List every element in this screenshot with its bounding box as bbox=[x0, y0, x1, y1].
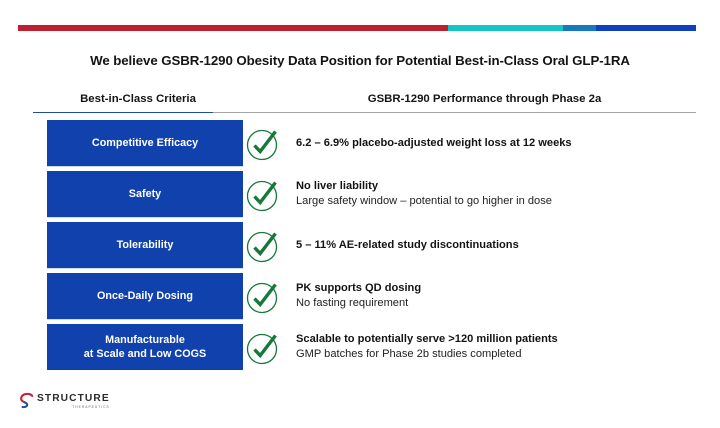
criteria-label: Manufacturable at Scale and Low COGS bbox=[84, 333, 206, 361]
table-row: Tolerability 5 – 11% AE-related study di… bbox=[0, 222, 720, 270]
criteria-label: Competitive Efficacy bbox=[92, 136, 198, 150]
performance-cell: PK supports QD dosing No fasting require… bbox=[296, 273, 706, 319]
slide-title: We believe GSBR-1290 Obesity Data Positi… bbox=[0, 53, 720, 68]
criteria-box-underline bbox=[47, 268, 243, 269]
criteria-table: Competitive Efficacy 6.2 – 6.9% placebo-… bbox=[0, 120, 720, 375]
table-row: Safety No liver liability Large safety w… bbox=[0, 171, 720, 219]
criteria-label: Once-Daily Dosing bbox=[97, 289, 193, 303]
performance-secondary: Large safety window – potential to go hi… bbox=[296, 194, 706, 209]
column-header-performance: GSBR-1290 Performance through Phase 2a bbox=[273, 93, 696, 105]
accent-bar-segment-blue bbox=[596, 25, 696, 31]
header-divider-gray bbox=[213, 112, 696, 113]
column-header-criteria: Best-in-Class Criteria bbox=[33, 93, 243, 105]
criteria-box: Tolerability bbox=[47, 222, 243, 268]
header-divider-blue bbox=[33, 112, 213, 113]
accent-bar bbox=[18, 25, 696, 31]
performance-primary: PK supports QD dosing bbox=[296, 281, 706, 296]
column-headers: Best-in-Class Criteria GSBR-1290 Perform… bbox=[33, 93, 696, 110]
performance-cell: No liver liability Large safety window –… bbox=[296, 171, 706, 217]
logo-company-name: STRUCTURE bbox=[37, 394, 110, 404]
table-row: Manufacturable at Scale and Low COGS Sca… bbox=[0, 324, 720, 372]
check-circle-icon bbox=[244, 329, 282, 367]
logo-company-subtitle: THERAPEUTICS bbox=[37, 405, 110, 410]
performance-cell: 5 – 11% AE-related study discontinuation… bbox=[296, 222, 706, 268]
check-circle-icon bbox=[244, 278, 282, 316]
criteria-label: Tolerability bbox=[117, 238, 174, 252]
performance-cell: 6.2 – 6.9% placebo-adjusted weight loss … bbox=[296, 120, 706, 166]
criteria-label-line1: Manufacturable bbox=[105, 334, 185, 346]
performance-primary: 5 – 11% AE-related study discontinuation… bbox=[296, 238, 706, 253]
criteria-box: Once-Daily Dosing bbox=[47, 273, 243, 319]
company-logo: STRUCTURE THERAPEUTICS bbox=[18, 392, 110, 412]
criteria-label-line2: at Scale and Low COGS bbox=[84, 348, 206, 360]
check-circle-icon bbox=[244, 125, 282, 163]
criteria-box-underline bbox=[47, 166, 243, 167]
structure-s-mark-icon bbox=[18, 392, 34, 409]
header-divider bbox=[33, 112, 696, 113]
check-circle-icon bbox=[244, 227, 282, 265]
accent-bar-segment-red bbox=[18, 25, 448, 31]
performance-secondary: No fasting requirement bbox=[296, 296, 706, 311]
accent-bar-segment-teal bbox=[448, 25, 563, 31]
criteria-box: Manufacturable at Scale and Low COGS bbox=[47, 324, 243, 370]
logo-wordmark: STRUCTURE THERAPEUTICS bbox=[37, 392, 110, 410]
check-circle-icon bbox=[244, 176, 282, 214]
criteria-box: Safety bbox=[47, 171, 243, 217]
criteria-box-underline bbox=[47, 319, 243, 320]
performance-cell: Scalable to potentially serve >120 milli… bbox=[296, 324, 706, 370]
criteria-label: Safety bbox=[129, 187, 161, 201]
criteria-box-underline bbox=[47, 217, 243, 218]
performance-secondary: GMP batches for Phase 2b studies complet… bbox=[296, 347, 706, 362]
performance-primary: No liver liability bbox=[296, 179, 706, 194]
table-row: Once-Daily Dosing PK supports QD dosing … bbox=[0, 273, 720, 321]
performance-primary: 6.2 – 6.9% placebo-adjusted weight loss … bbox=[296, 136, 706, 151]
table-row: Competitive Efficacy 6.2 – 6.9% placebo-… bbox=[0, 120, 720, 168]
performance-primary: Scalable to potentially serve >120 milli… bbox=[296, 332, 706, 347]
accent-bar-segment-mid-blue bbox=[563, 25, 596, 31]
slide-canvas: We believe GSBR-1290 Obesity Data Positi… bbox=[0, 0, 720, 428]
criteria-box: Competitive Efficacy bbox=[47, 120, 243, 166]
